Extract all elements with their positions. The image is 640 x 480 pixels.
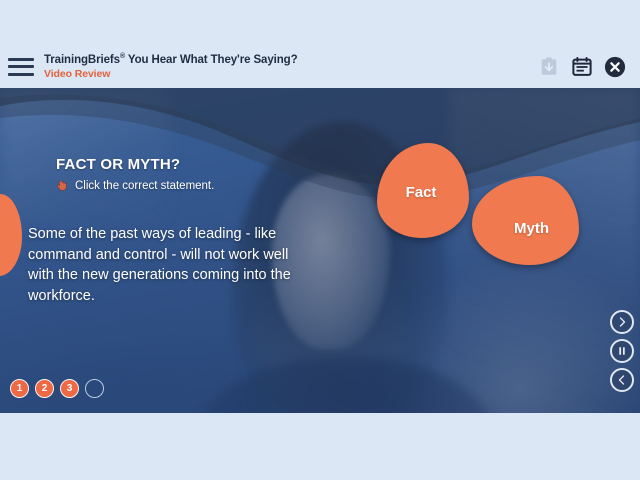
hamburger-line bbox=[8, 65, 34, 68]
course-title: TrainingBriefs® You Hear What They're Sa… bbox=[44, 53, 538, 67]
progress-dot-1[interactable]: 1 bbox=[10, 379, 29, 398]
answer-label-fact: Fact bbox=[406, 184, 437, 201]
progress-dot-3[interactable]: 3 bbox=[60, 379, 79, 398]
training-player-app: TrainingBriefs® You Hear What They're Sa… bbox=[0, 0, 640, 480]
click-hand-icon bbox=[56, 179, 69, 192]
course-title-brand: TrainingBriefs bbox=[44, 54, 120, 66]
player-controls bbox=[610, 310, 634, 392]
course-subtitle: Video Review bbox=[44, 68, 538, 80]
app-footer bbox=[0, 413, 640, 480]
header-title-block: TrainingBriefs® You Hear What They're Sa… bbox=[44, 53, 538, 80]
pause-button[interactable] bbox=[610, 339, 634, 363]
prompt-hint: Click the correct statement. bbox=[56, 179, 356, 192]
chevron-right-icon bbox=[616, 316, 628, 328]
next-button[interactable] bbox=[610, 310, 634, 334]
pause-icon bbox=[616, 345, 628, 357]
prompt-hint-text: Click the correct statement. bbox=[75, 180, 214, 192]
notes-icon[interactable] bbox=[571, 56, 593, 78]
video-stage[interactable]: FACT OR MYTH? Click the correct statemen… bbox=[0, 88, 640, 413]
hamburger-line bbox=[8, 73, 34, 76]
prompt-title: FACT OR MYTH? bbox=[56, 156, 356, 173]
hamburger-line bbox=[8, 58, 34, 61]
progress-dots: 1 2 3 bbox=[10, 379, 104, 398]
progress-dot-2[interactable]: 2 bbox=[35, 379, 54, 398]
course-title-rest: You Hear What They're Saying? bbox=[125, 54, 298, 66]
download-icon[interactable] bbox=[538, 56, 560, 78]
header-actions bbox=[538, 56, 626, 78]
close-icon[interactable] bbox=[604, 56, 626, 78]
progress-dot-4[interactable] bbox=[85, 379, 104, 398]
statement-text: Some of the past ways of leading - like … bbox=[28, 224, 306, 306]
prompt-block: FACT OR MYTH? Click the correct statemen… bbox=[56, 156, 356, 192]
answer-label-myth: Myth bbox=[514, 220, 549, 237]
app-header: TrainingBriefs® You Hear What They're Sa… bbox=[0, 45, 640, 88]
previous-button[interactable] bbox=[610, 368, 634, 392]
hamburger-menu-icon[interactable] bbox=[8, 58, 34, 76]
chevron-left-icon bbox=[616, 374, 628, 386]
